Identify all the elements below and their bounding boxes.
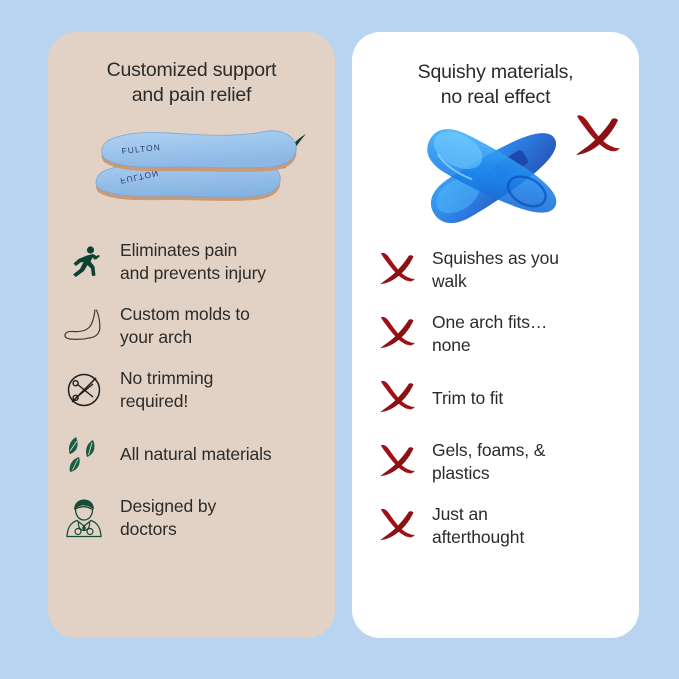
feature-line1: One arch fits… xyxy=(432,312,547,332)
panel-con-heading-line2: no real effect xyxy=(382,85,609,110)
red-x-icon xyxy=(370,309,422,359)
feature-line1: Trim to fit xyxy=(432,388,503,408)
list-item-label: One arch fits… none xyxy=(422,311,547,357)
list-item-label: All natural materials xyxy=(112,443,272,466)
pro-feature-list: Eliminates pain and prevents injury Cust… xyxy=(48,230,335,550)
running-person-icon xyxy=(56,237,112,287)
feature-line2: and prevents injury xyxy=(120,263,266,283)
feature-line1: Squishes as you xyxy=(432,248,559,268)
feature-line1: Designed by xyxy=(120,496,216,516)
feature-line2: your arch xyxy=(120,327,192,347)
feature-line2: none xyxy=(432,335,471,355)
list-item-label: Custom molds to your arch xyxy=(112,303,250,349)
feature-line2: walk xyxy=(432,271,467,291)
list-item-label: No trimming required! xyxy=(112,367,213,413)
list-item: Custom molds to your arch xyxy=(48,294,317,358)
panel-con-heading-line1: Squishy materials, xyxy=(382,60,609,85)
gel-insoles-crossed-image xyxy=(352,112,639,238)
panel-pro-heading-line1: Customized support xyxy=(78,58,305,83)
list-item: No trimming required! xyxy=(48,358,317,422)
fulton-custom-insoles-image: FULTON FULTON xyxy=(48,118,335,230)
list-item: Trim to fit xyxy=(352,366,621,430)
feature-line2: plastics xyxy=(432,463,490,483)
list-item: Eliminates pain and prevents injury xyxy=(48,230,317,294)
doctor-icon xyxy=(56,493,112,543)
list-item: Gels, foams, & plastics xyxy=(352,430,621,494)
feature-line2: doctors xyxy=(120,519,177,539)
no-scissors-icon xyxy=(56,365,112,415)
red-x-icon xyxy=(370,501,422,551)
list-item-label: Squishes as you walk xyxy=(422,247,559,293)
feature-line2: required! xyxy=(120,391,188,411)
panel-con-heading: Squishy materials, no real effect xyxy=(352,32,639,110)
feature-line1: Custom molds to xyxy=(120,304,250,324)
list-item: Designed by doctors xyxy=(48,486,317,550)
list-item: All natural materials xyxy=(48,422,317,486)
feature-line2: afterthought xyxy=(432,527,524,547)
panel-pro: Customized support and pain relief xyxy=(48,32,335,638)
feature-line1: Just an xyxy=(432,504,488,524)
list-item: Squishes as you walk xyxy=(352,238,621,302)
list-item-label: Designed by doctors xyxy=(112,495,216,541)
list-item: One arch fits… none xyxy=(352,302,621,366)
leaves-icon xyxy=(56,429,112,479)
list-item-label: Trim to fit xyxy=(422,387,503,410)
feature-line1: All natural materials xyxy=(120,444,272,464)
con-feature-list: Squishes as you walk One arch fits… none xyxy=(352,238,639,558)
red-x-icon xyxy=(370,245,422,295)
red-x-icon xyxy=(370,373,422,423)
panel-con: Squishy materials, no real effect xyxy=(352,32,639,638)
panel-pro-heading-line2: and pain relief xyxy=(78,83,305,108)
foot-arch-icon xyxy=(56,301,112,351)
list-item-label: Gels, foams, & plastics xyxy=(422,439,545,485)
feature-line1: Eliminates pain xyxy=(120,240,237,260)
feature-line1: Gels, foams, & xyxy=(432,440,545,460)
list-item: Just an afterthought xyxy=(352,494,621,558)
list-item-label: Just an afterthought xyxy=(422,503,524,549)
comparison-infographic: Customized support and pain relief xyxy=(0,0,679,679)
feature-line1: No trimming xyxy=(120,368,213,388)
list-item-label: Eliminates pain and prevents injury xyxy=(112,239,266,285)
red-x-icon xyxy=(370,437,422,487)
panel-pro-heading: Customized support and pain relief xyxy=(48,32,335,108)
